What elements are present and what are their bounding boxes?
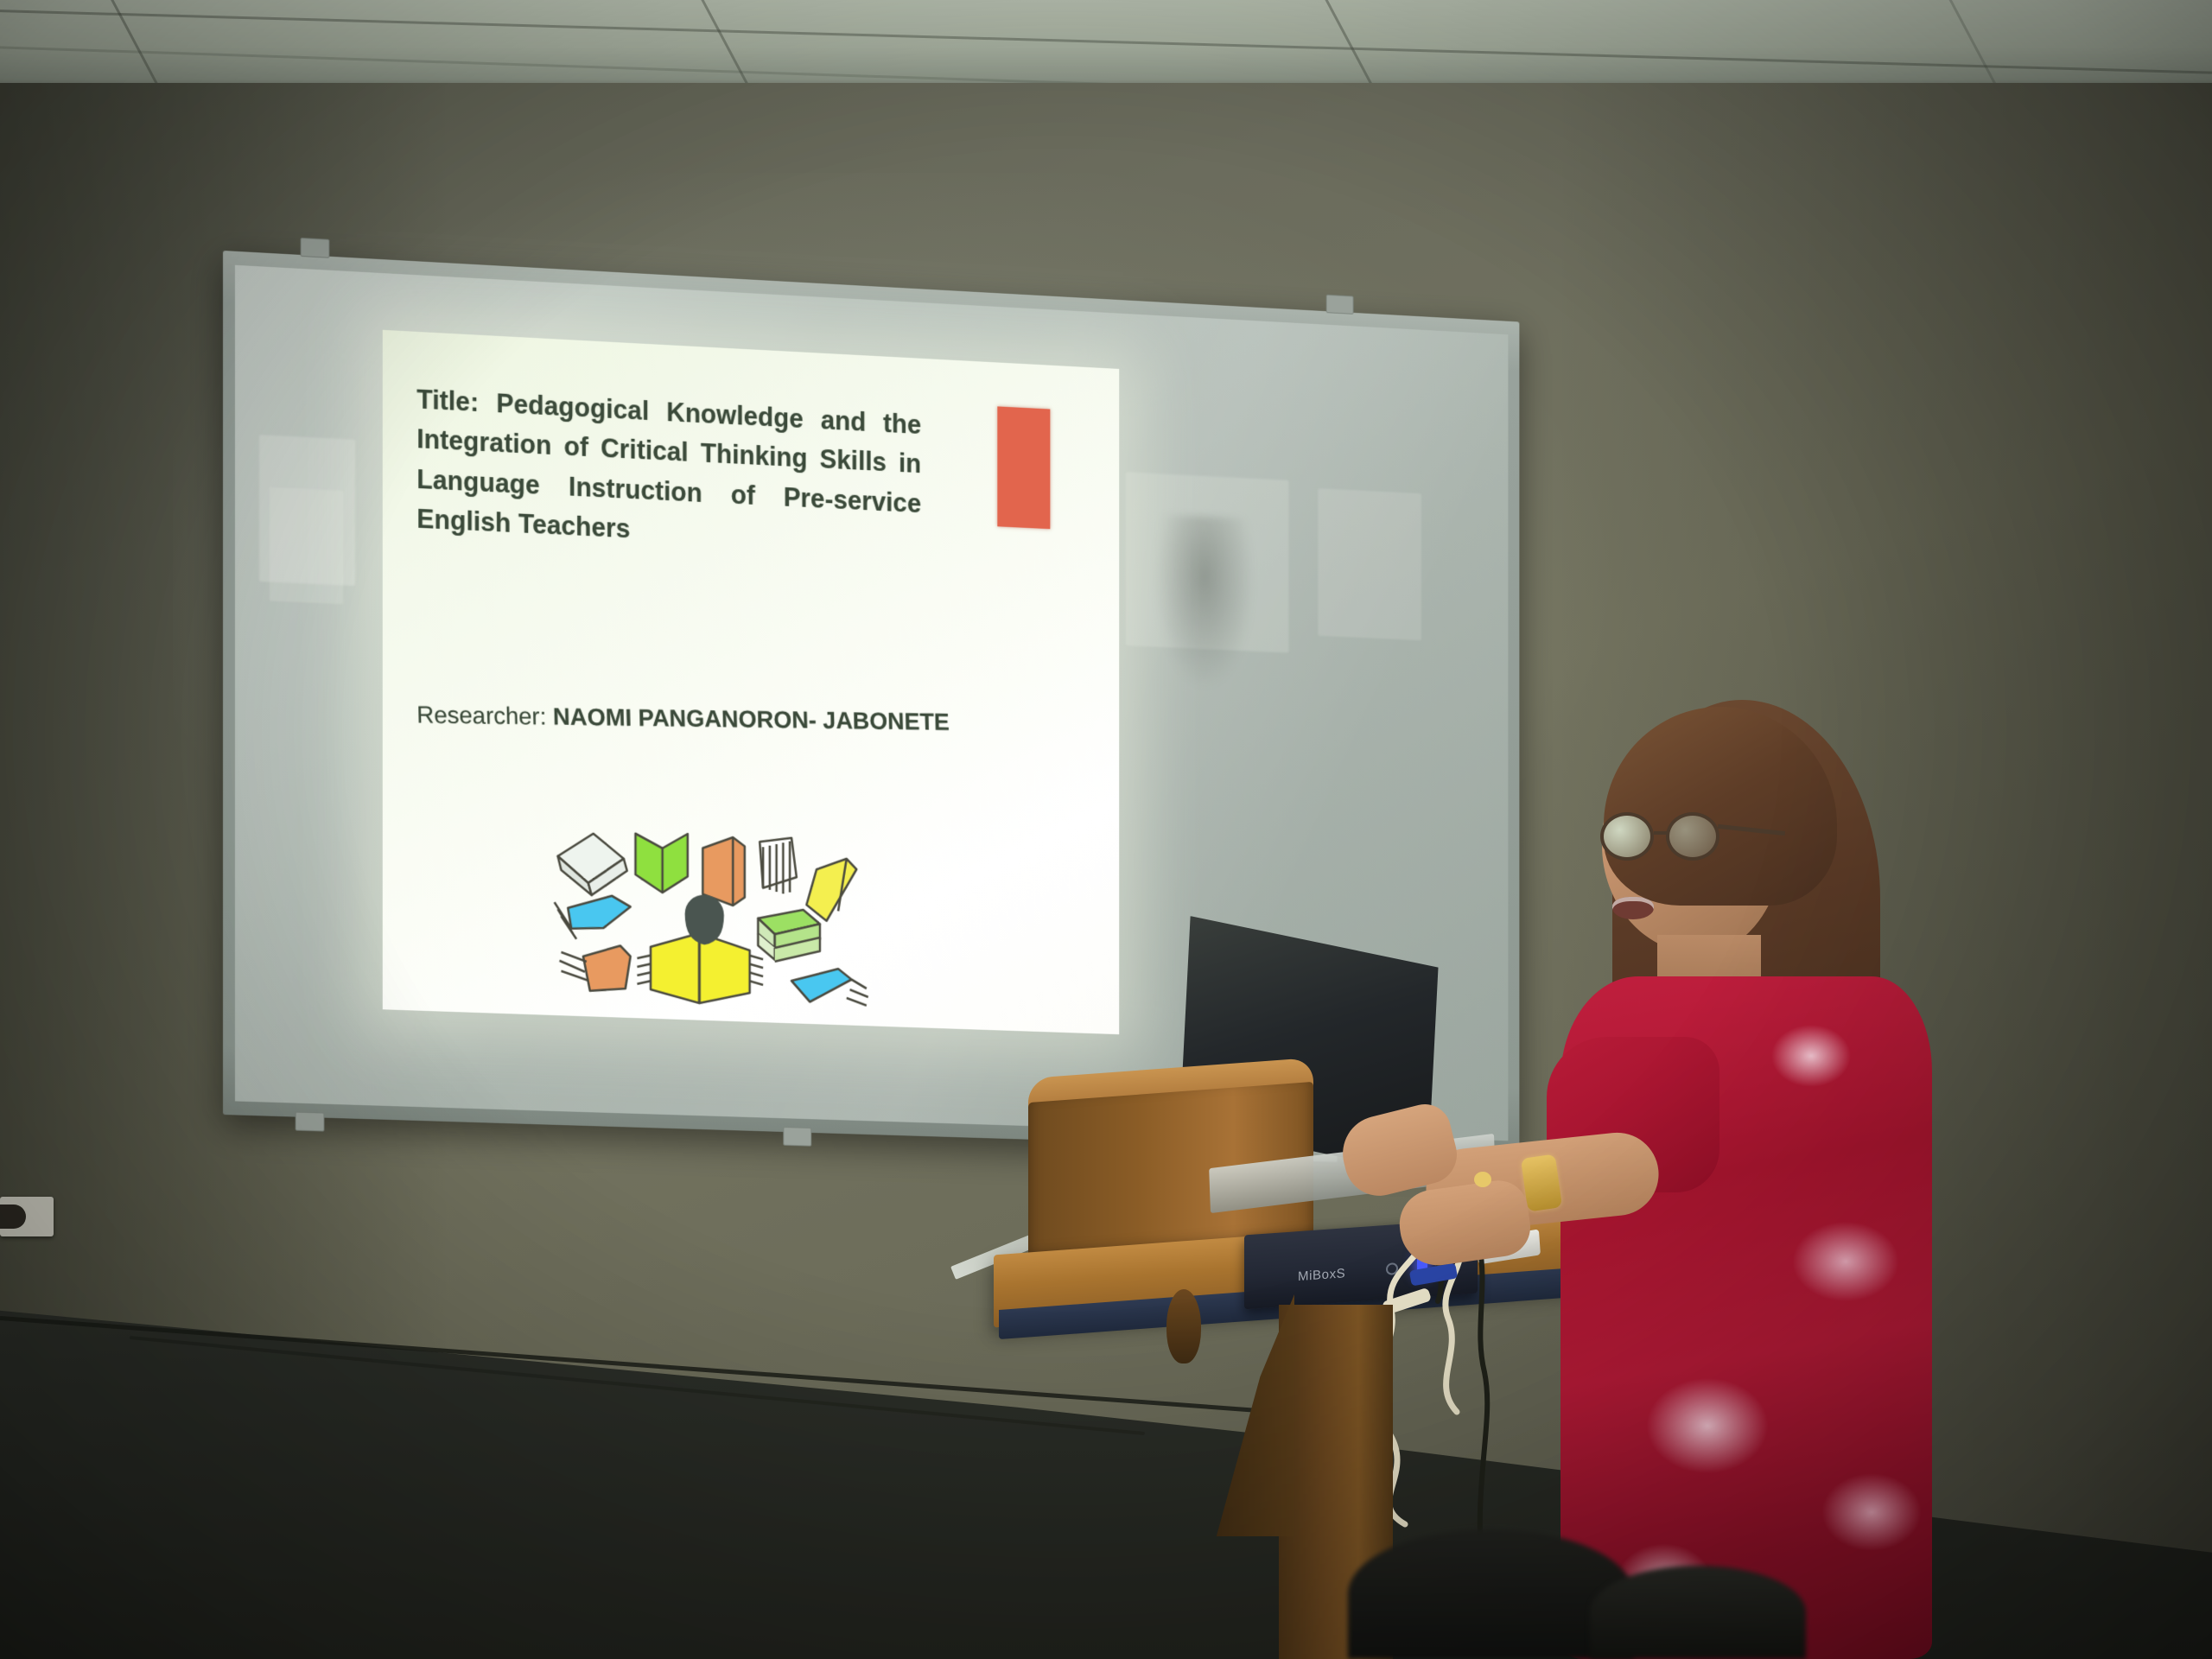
books-clipart-icon [543,818,895,1019]
projected-slide: Title: Pedagogical Knowledge and the Int… [383,330,1119,1034]
whiteboard-mount-bracket [1326,295,1354,315]
audience-head [1590,1566,1806,1659]
presentation-room-scene: Title: Pedagogical Knowledge and the Int… [0,0,2212,1659]
gold-ring [1474,1172,1491,1187]
whiteboard-mount-bracket [783,1127,811,1147]
glasses-left-lens [1600,812,1654,861]
power-plug-icon [0,1205,26,1229]
researcher-name: NAOMI PANGANORON- JABONETE [552,703,950,735]
whiteboard-reflection [1152,514,1256,696]
whiteboard-mount-bracket [301,238,330,258]
slide-title: Title: Pedagogical Knowledge and the Int… [416,380,921,563]
tape-residue-mark [1318,488,1421,640]
wall-outlet[interactable] [0,1197,54,1236]
glasses-bridge [1654,831,1668,835]
tape-residue-mark [270,487,343,605]
slide-accent-bar [997,406,1050,529]
researcher-label: Researcher: [416,702,547,730]
mouth [1612,897,1654,919]
eyeglasses-icon [1600,812,1764,866]
podium-turned-leg-detail [1166,1289,1201,1363]
glasses-right-lens [1666,812,1719,861]
slide-researcher-line: Researcher: NAOMI PANGANORON- JABONETE [416,702,1086,738]
presenter [1529,691,2134,1659]
whiteboard-mount-bracket [296,1112,325,1132]
